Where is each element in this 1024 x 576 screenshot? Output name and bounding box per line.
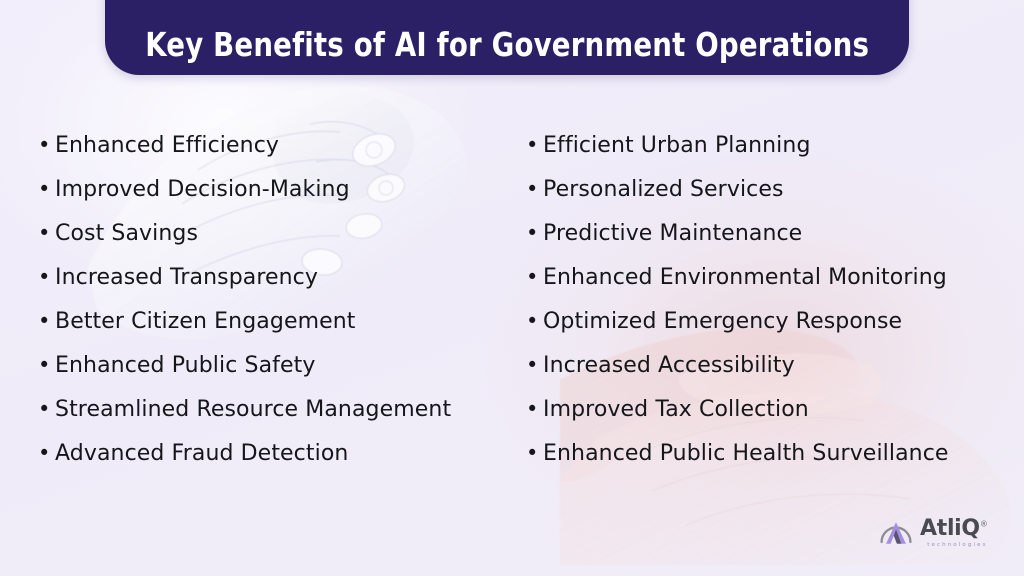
benefit-label: Improved Tax Collection bbox=[543, 397, 809, 422]
bullet-icon: • bbox=[526, 443, 543, 464]
benefit-label: Improved Decision-Making bbox=[55, 177, 350, 202]
list-item: • Efficient Urban Planning bbox=[526, 133, 1024, 177]
bullet-icon: • bbox=[38, 311, 55, 332]
benefit-label: Enhanced Efficiency bbox=[55, 133, 279, 158]
benefit-label: Increased Accessibility bbox=[543, 353, 795, 378]
list-item: • Improved Tax Collection bbox=[526, 397, 1024, 441]
list-item: • Better Citizen Engagement bbox=[38, 309, 500, 353]
atliq-wordmark: AtliQ® bbox=[920, 518, 988, 540]
list-item: • Cost Savings bbox=[38, 221, 500, 265]
bullet-icon: • bbox=[526, 267, 543, 288]
benefit-label: Efficient Urban Planning bbox=[543, 133, 811, 158]
benefit-label: Better Citizen Engagement bbox=[55, 309, 356, 334]
registered-mark-icon: ® bbox=[980, 519, 988, 528]
benefit-label: Increased Transparency bbox=[55, 265, 318, 290]
bullet-icon: • bbox=[38, 223, 55, 244]
benefit-label: Optimized Emergency Response bbox=[543, 309, 902, 334]
list-item: • Personalized Services bbox=[526, 177, 1024, 221]
benefits-list-left: • Enhanced Efficiency • Improved Decisio… bbox=[38, 133, 500, 485]
bullet-icon: • bbox=[526, 223, 543, 244]
bullet-icon: • bbox=[38, 355, 55, 376]
list-item: • Enhanced Efficiency bbox=[38, 133, 500, 177]
list-item: • Enhanced Public Safety bbox=[38, 353, 500, 397]
benefits-list-right: • Efficient Urban Planning • Personalize… bbox=[526, 133, 1024, 485]
benefit-label: Cost Savings bbox=[55, 221, 198, 246]
list-item: • Enhanced Environmental Monitoring bbox=[526, 265, 1024, 309]
list-item: • Increased Accessibility bbox=[526, 353, 1024, 397]
list-item: • Streamlined Resource Management bbox=[38, 397, 500, 441]
benefit-label: Predictive Maintenance bbox=[543, 221, 802, 246]
benefit-label: Advanced Fraud Detection bbox=[55, 441, 348, 466]
list-item: • Improved Decision-Making bbox=[38, 177, 500, 221]
list-item: • Enhanced Public Health Surveillance bbox=[526, 441, 1024, 485]
atliq-wordmark-block: AtliQ® technologies bbox=[920, 518, 988, 549]
benefit-label: Enhanced Public Health Surveillance bbox=[543, 441, 949, 466]
page-title: Key Benefits of AI for Government Operat… bbox=[145, 28, 869, 61]
bullet-icon: • bbox=[526, 399, 543, 420]
list-item: • Increased Transparency bbox=[38, 265, 500, 309]
bullet-icon: • bbox=[38, 267, 55, 288]
slide: Key Benefits of AI for Government Operat… bbox=[0, 0, 1024, 576]
atliq-tagline: technologies bbox=[920, 543, 988, 549]
bullet-icon: • bbox=[526, 179, 543, 200]
benefits-column-right: • Efficient Urban Planning • Personalize… bbox=[500, 133, 1024, 485]
benefit-label: Enhanced Public Safety bbox=[55, 353, 315, 378]
atliq-wordmark-text: AtliQ bbox=[920, 516, 980, 541]
atliq-logo: AtliQ® technologies bbox=[878, 510, 1002, 556]
bullet-icon: • bbox=[526, 355, 543, 376]
atliq-a-monogram-icon bbox=[878, 515, 914, 551]
title-banner: Key Benefits of AI for Government Operat… bbox=[105, 0, 909, 75]
benefit-label: Personalized Services bbox=[543, 177, 784, 202]
list-item: • Advanced Fraud Detection bbox=[38, 441, 500, 485]
benefits-columns: • Enhanced Efficiency • Improved Decisio… bbox=[0, 133, 1024, 485]
benefit-label: Enhanced Environmental Monitoring bbox=[543, 265, 947, 290]
bullet-icon: • bbox=[38, 135, 55, 156]
benefit-label: Streamlined Resource Management bbox=[55, 397, 451, 422]
bullet-icon: • bbox=[38, 399, 55, 420]
benefits-column-left: • Enhanced Efficiency • Improved Decisio… bbox=[0, 133, 500, 485]
list-item: • Predictive Maintenance bbox=[526, 221, 1024, 265]
list-item: • Optimized Emergency Response bbox=[526, 309, 1024, 353]
bullet-icon: • bbox=[38, 179, 55, 200]
bullet-icon: • bbox=[526, 135, 543, 156]
bullet-icon: • bbox=[526, 311, 543, 332]
bullet-icon: • bbox=[38, 443, 55, 464]
